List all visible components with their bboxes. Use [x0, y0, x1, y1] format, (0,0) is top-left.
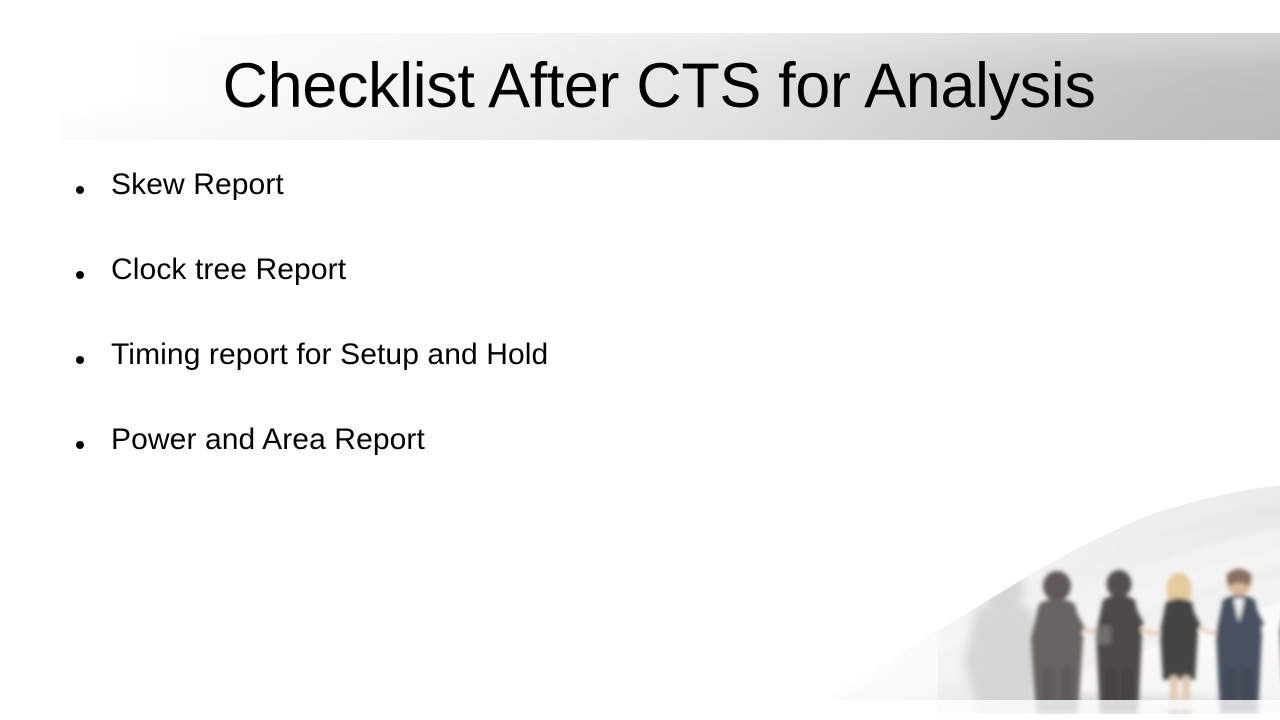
page-title: Checklist After CTS for Analysis [62, 33, 1280, 140]
list-item-label: Clock tree Report [111, 253, 346, 287]
bullet-dot-icon [76, 271, 84, 279]
business-people-holding-hands-photo [808, 470, 1280, 714]
list-item: Timing report for Setup and Hold [68, 338, 1068, 423]
bullet-dot-icon [76, 356, 84, 364]
presentation-slide: Checklist After CTS for Analysis Skew Re… [0, 0, 1280, 720]
list-item: Clock tree Report [68, 253, 1068, 338]
bullet-list: Skew Report Clock tree Report Timing rep… [68, 168, 1068, 508]
list-item-label: Skew Report [111, 168, 284, 202]
list-item: Skew Report [68, 168, 1068, 253]
bullet-dot-icon [76, 186, 84, 194]
list-item-label: Timing report for Setup and Hold [111, 338, 548, 372]
list-item-label: Power and Area Report [111, 423, 425, 457]
bullet-dot-icon [76, 441, 84, 449]
